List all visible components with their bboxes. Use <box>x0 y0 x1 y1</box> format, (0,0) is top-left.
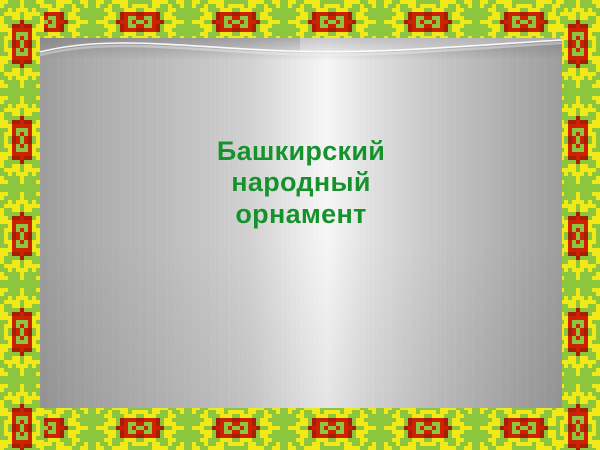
title-slide: Башкирский народный орнамент <box>0 0 600 450</box>
title-line-3: орнамент <box>40 199 562 230</box>
title-line-1: Башкирский <box>40 136 562 167</box>
page-title: Башкирский народный орнамент <box>40 136 562 230</box>
title-line-2: народный <box>40 167 562 198</box>
ornament-border-right <box>556 0 600 450</box>
panel-highlight-wave <box>40 38 562 78</box>
content-panel: Башкирский народный орнамент <box>40 38 562 408</box>
ornament-border-left <box>0 0 44 450</box>
ornament-border-bottom <box>0 406 600 450</box>
